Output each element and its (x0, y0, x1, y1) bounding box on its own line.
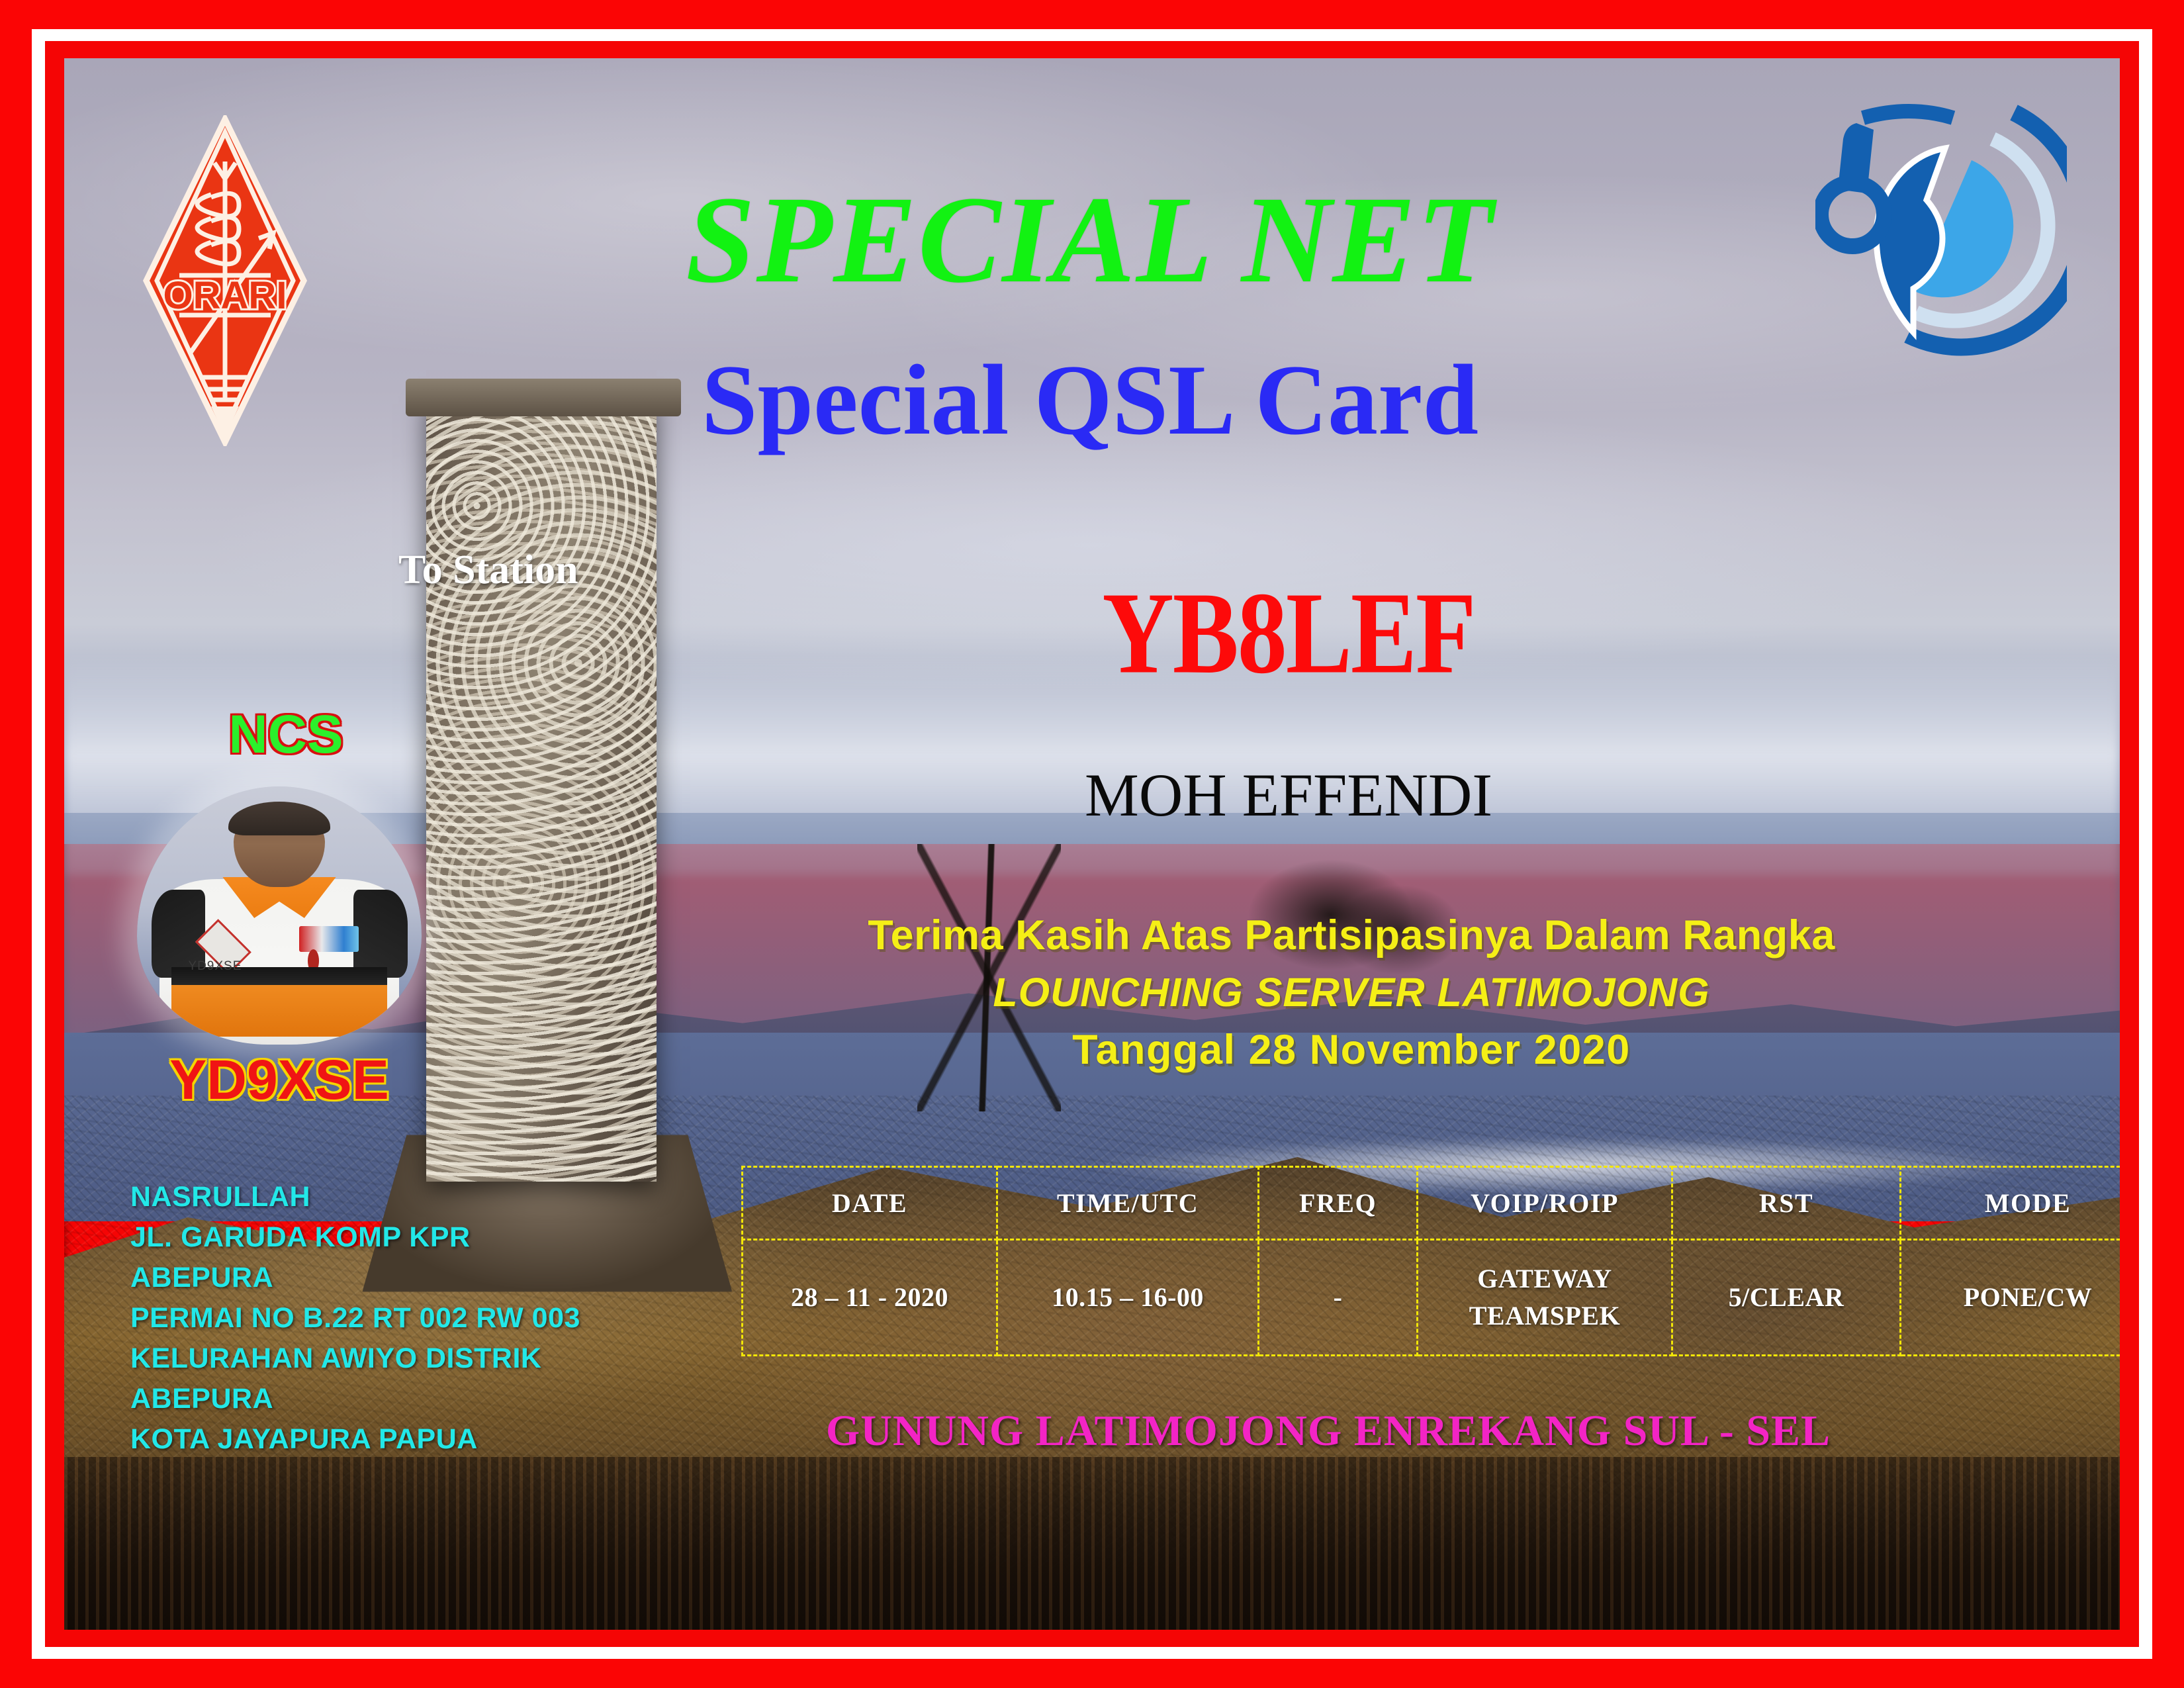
column-header-mode: MODE (1901, 1167, 2120, 1240)
address-line: KOTA JAYAPURA PAPUA (130, 1419, 580, 1460)
headset-profile-logo (1815, 91, 2067, 356)
cell-time: 10.15 – 16-00 (997, 1240, 1259, 1356)
operator-name: MOH EFFENDI (858, 760, 1719, 830)
cell-freq: - (1259, 1240, 1418, 1356)
table-row: 28 – 11 - 2020 10.15 – 16-00 - GATEWAY T… (743, 1240, 2120, 1356)
table-header-row: DATE TIME/UTC FREQ VOIP/ROIP RST MODE (743, 1167, 2120, 1240)
address-line: ABEPURA (130, 1258, 580, 1298)
cell-voip-line-1: GATEWAY (1419, 1260, 1670, 1297)
event-message-block: Terima Kasih Atas Partisipasinya Dalam R… (832, 912, 1871, 1073)
cell-date: 28 – 11 - 2020 (743, 1240, 997, 1356)
stone-monument-pillar (426, 396, 657, 1182)
address-block: NASRULLAH JL. GARUDA KOMP KPR ABEPURA PE… (130, 1177, 580, 1460)
address-line: PERMAI NO B.22 RT 002 RW 003 (130, 1298, 580, 1338)
qsl-card-frame: ORARI SPECIAL NET Special QSL Card To St… (0, 0, 2184, 1688)
qso-table: DATE TIME/UTC FREQ VOIP/ROIP RST MODE 28… (741, 1166, 2120, 1356)
to-station-label: To Station (398, 547, 578, 594)
column-header-date: DATE (743, 1167, 997, 1240)
page-title: SPECIAL NET (461, 177, 1719, 302)
cell-rst: 5/CLEAR (1672, 1240, 1901, 1356)
station-callsign: YB8LEF (858, 575, 1719, 692)
address-line: JL. GARUDA KOMP KPR (130, 1217, 580, 1258)
avatar: YD9XSE (137, 786, 422, 1045)
event-line-2: LOUNCHING SERVER LATIMOJONG (832, 970, 1871, 1015)
cell-voip: GATEWAY TEAMSPEK (1418, 1240, 1672, 1356)
column-header-freq: FREQ (1259, 1167, 1418, 1240)
cell-voip-line-2: TEAMSPEK (1419, 1297, 1670, 1335)
orari-logo: ORARI (142, 115, 308, 446)
column-header-rst: RST (1672, 1167, 1901, 1240)
card-photo-area: ORARI SPECIAL NET Special QSL Card To St… (64, 58, 2120, 1630)
avatar-shoulder-right (353, 890, 408, 978)
column-header-time: TIME/UTC (997, 1167, 1259, 1240)
location-label: GUNUNG LATIMOJONG ENREKANG SUL - SEL (700, 1406, 1957, 1456)
address-line: KELURAHAN AWIYO DISTRIK (130, 1338, 580, 1379)
ncs-label: NCS (200, 704, 372, 766)
avatar-lower-uniform (171, 985, 388, 1037)
cell-mode: PONE/CW (1901, 1240, 2120, 1356)
column-header-voip: VOIP/ROIP (1418, 1167, 1672, 1240)
address-line: NASRULLAH (130, 1177, 580, 1217)
page-subtitle: Special QSL Card (461, 350, 1719, 450)
event-line-3: Tanggal 28 November 2020 (832, 1027, 1871, 1074)
foreground-texture (64, 1457, 2120, 1630)
ncs-callsign: YD9XSE (134, 1048, 425, 1112)
address-line: ABEPURA (130, 1379, 580, 1419)
orari-logo-text: ORARI (163, 274, 287, 317)
avatar-shirt-callsign: YD9XSE (188, 959, 251, 972)
avatar-logo-patch (299, 926, 359, 952)
event-line-1: Terima Kasih Atas Partisipasinya Dalam R… (832, 912, 1871, 959)
